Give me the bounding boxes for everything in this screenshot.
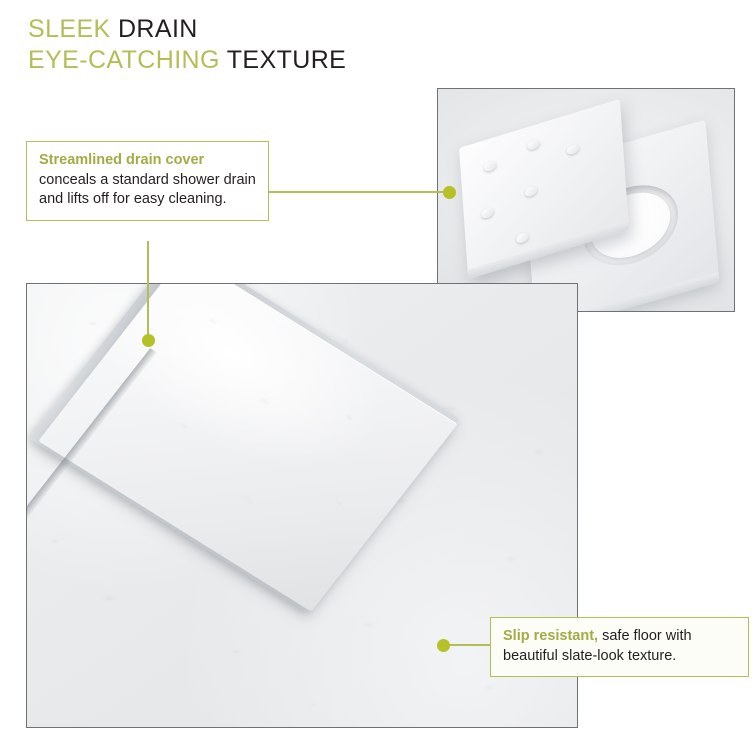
callout-drain-cover-body: conceals a standard shower drain and lif… (39, 172, 256, 208)
cover-nub-icon (516, 231, 529, 244)
cover-nub-icon (524, 185, 537, 198)
callout-drain-cover-bold: Streamlined drain cover (39, 152, 204, 168)
headline-line-2: EYE-CATCHING TEXTURE (28, 45, 548, 76)
cover-nub-icon (484, 160, 497, 173)
headline-dark-texture: TEXTURE (227, 46, 346, 74)
connector-line-drain-to-inset (268, 191, 450, 193)
connector-dot-inset-photo (443, 186, 456, 199)
headline-accent-eye-catching: EYE-CATCHING (28, 46, 220, 74)
connector-dot-main-photo (142, 334, 155, 347)
page-headline: SLEEK DRAIN EYE-CATCHING TEXTURE (28, 14, 548, 76)
headline-accent-sleek: SLEEK (28, 15, 111, 43)
connector-line-drain-to-main (147, 241, 149, 341)
drain-cover-detail-photo (437, 88, 735, 312)
headline-line-1: SLEEK DRAIN (28, 14, 548, 45)
connector-dot-slip-resistant (437, 639, 450, 652)
headline-dark-drain: DRAIN (118, 15, 198, 43)
cover-nub-icon (566, 143, 579, 156)
callout-slip-resistant-bold: Slip resistant, (503, 628, 598, 644)
cover-nub-icon (481, 207, 494, 220)
cover-nub-icon (527, 138, 540, 151)
callout-slip-resistant: Slip resistant, safe floor with beautifu… (490, 617, 749, 677)
connector-line-slip-resistant (450, 644, 491, 646)
callout-drain-cover: Streamlined drain cover conceals a stand… (26, 141, 269, 221)
